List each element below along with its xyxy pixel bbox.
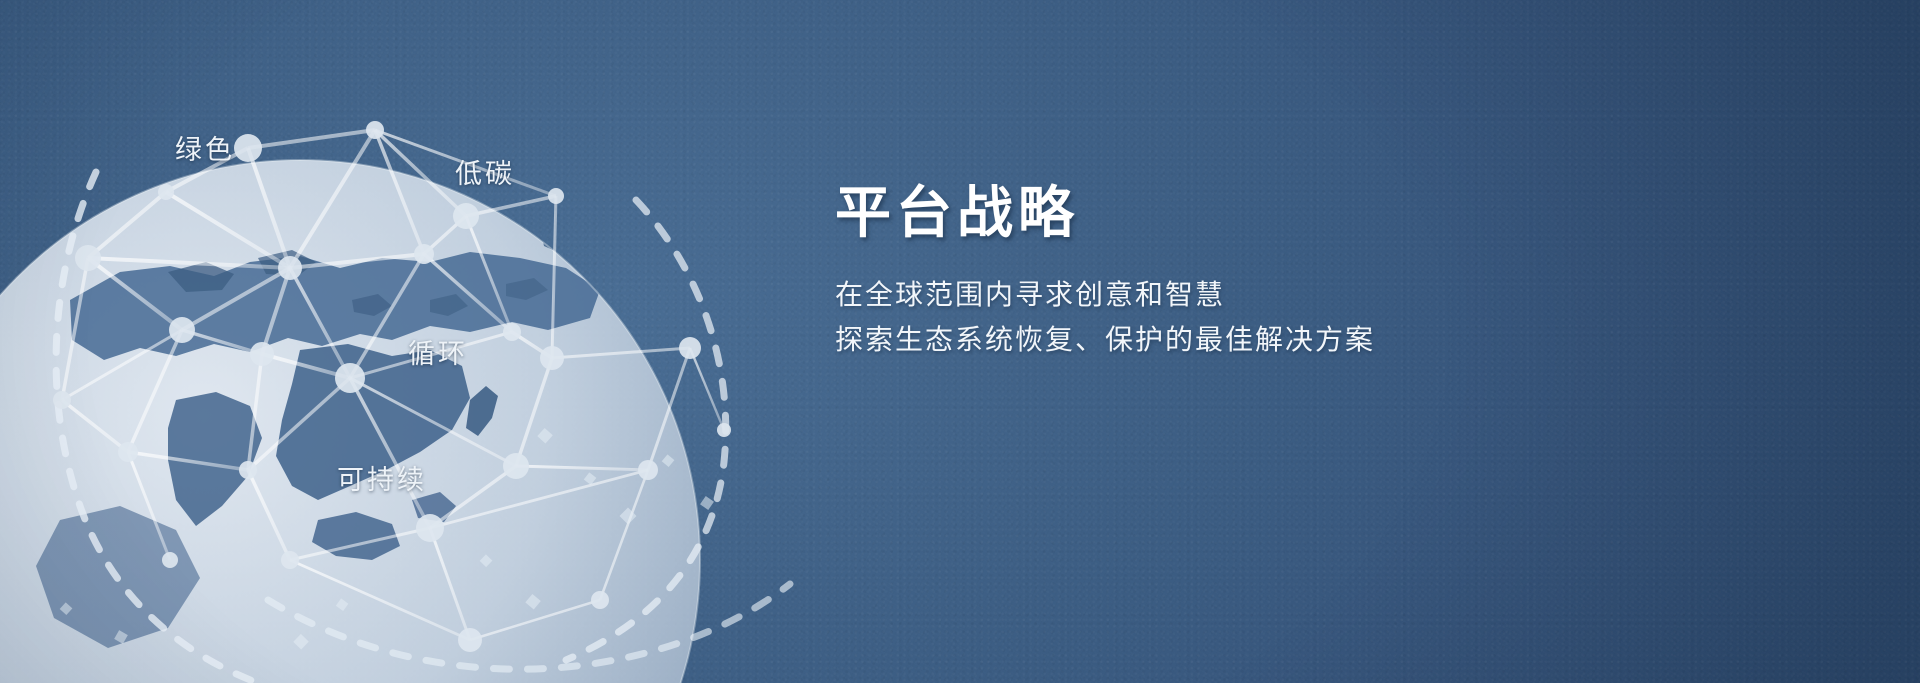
network-node bbox=[453, 203, 479, 229]
network-node bbox=[416, 514, 444, 542]
network-node bbox=[503, 453, 529, 479]
network-node bbox=[278, 256, 302, 280]
network-node bbox=[414, 244, 434, 264]
network-node bbox=[281, 551, 299, 569]
network-node bbox=[591, 591, 609, 609]
hero-subtitle: 在全球范围内寻求创意和智慧 探索生态系统恢复、保护的最佳解决方案 bbox=[835, 272, 1555, 363]
network-node bbox=[158, 184, 174, 200]
hero-banner: 绿色 低碳 循环 可持续 平台战略 在全球范围内寻求创意和智慧 探索生态系统恢复… bbox=[0, 0, 1920, 683]
network-node bbox=[250, 342, 274, 366]
network-node bbox=[679, 337, 701, 359]
network-node bbox=[548, 188, 564, 204]
network-node bbox=[53, 391, 71, 409]
network-node bbox=[366, 121, 384, 139]
particle bbox=[700, 496, 714, 510]
hero-copy: 平台战略 在全球范围内寻求创意和智慧 探索生态系统恢复、保护的最佳解决方案 bbox=[835, 180, 1555, 363]
network-node bbox=[118, 442, 138, 462]
page-title: 平台战略 bbox=[835, 180, 1555, 246]
network-node bbox=[75, 245, 101, 271]
network-node bbox=[717, 423, 731, 437]
subtitle-line-2: 探索生态系统恢复、保护的最佳解决方案 bbox=[835, 317, 1555, 362]
keyword-label-circular: 循环 bbox=[408, 332, 468, 371]
subtitle-line-1: 在全球范围内寻求创意和智慧 bbox=[835, 272, 1555, 317]
network-node bbox=[239, 461, 257, 479]
network-node bbox=[234, 134, 262, 162]
keyword-label-green: 绿色 bbox=[175, 128, 235, 167]
network-node bbox=[638, 460, 658, 480]
network-node bbox=[162, 552, 178, 568]
network-node bbox=[458, 628, 482, 652]
network-node bbox=[540, 346, 564, 370]
mesh-edge bbox=[248, 130, 375, 148]
keyword-label-sustainable: 可持续 bbox=[337, 458, 427, 497]
keyword-label-low-carbon: 低碳 bbox=[455, 152, 515, 191]
network-node bbox=[169, 317, 195, 343]
network-node bbox=[503, 323, 521, 341]
network-node bbox=[335, 363, 365, 393]
